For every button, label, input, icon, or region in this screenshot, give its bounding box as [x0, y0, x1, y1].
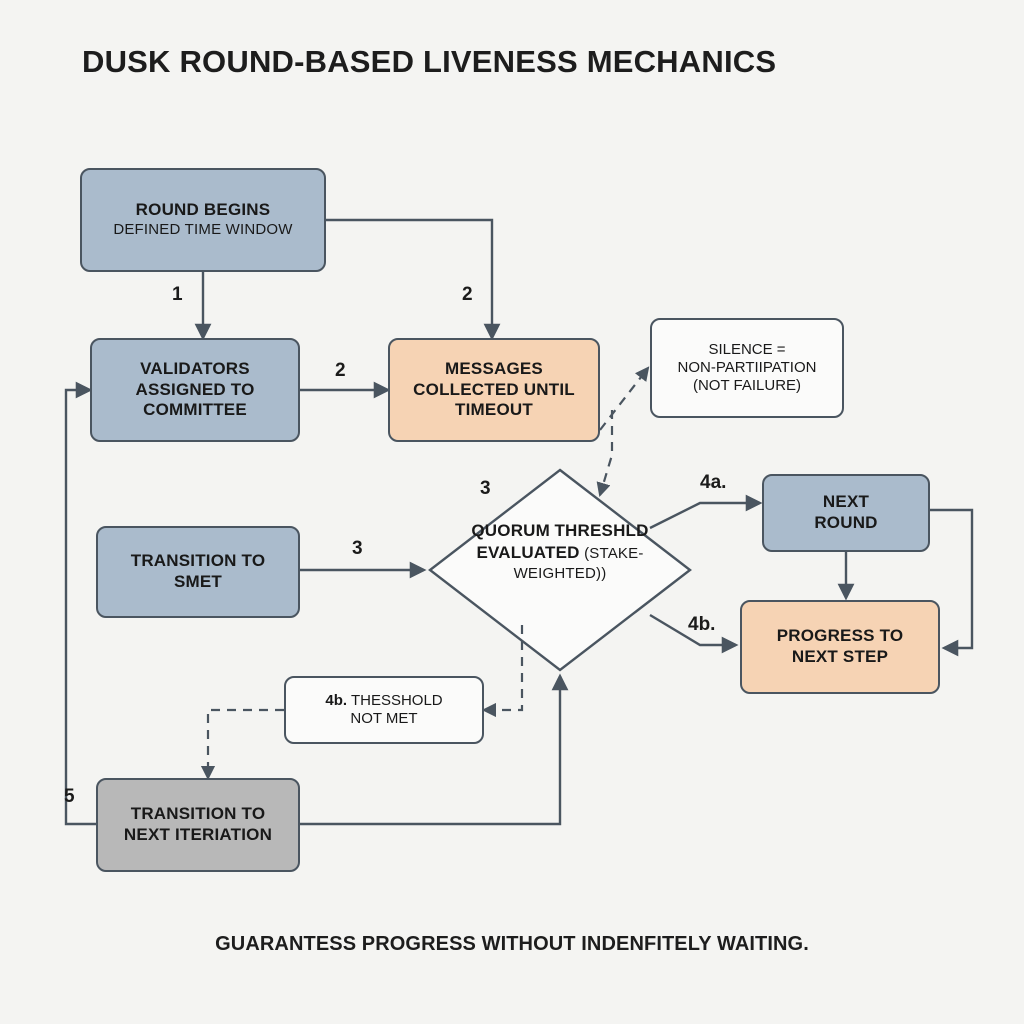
node-messages-line3: TIMEOUT: [455, 400, 533, 421]
node-transition-to-smet[interactable]: TRANSITION TO SMET: [96, 526, 300, 618]
edge-begins-to-messages: [326, 220, 492, 338]
node-validators-assigned[interactable]: VALIDATORS ASSIGNED TO COMMITTEE: [90, 338, 300, 442]
node-messages-line2: COLLECTED UNTIL: [413, 380, 575, 401]
node-validators-line2: ASSIGNED TO: [135, 380, 254, 401]
node-progress-line1: PROGRESS TO: [777, 626, 904, 647]
edge-label-begins-to-validators: 1: [172, 284, 183, 306]
diagram-canvas: DUSK ROUND-BASED LIVENESS MECHANICS: [0, 0, 1024, 1024]
node-round-begins-title: ROUND BEGINS: [136, 200, 271, 221]
edge-loop-back-to-validators: [66, 390, 96, 824]
node-next-round-line1: NEXT: [823, 492, 869, 513]
node-transition-next-iteration[interactable]: TRANSITION TO NEXT ITERIATION: [96, 778, 300, 872]
node-messages-collected[interactable]: MESSAGES COLLECTED UNTIL TIMEOUT: [388, 338, 600, 442]
node-next-round[interactable]: NEXT ROUND: [762, 474, 930, 552]
node-silence-line3: (NOT FAILURE): [693, 377, 801, 395]
edge-quorum-to-next-round: [650, 503, 760, 528]
edge-label-quorum-to-next-round: 4a.: [700, 472, 726, 494]
node-threshold-line1: 4b. THESSHOLD: [325, 692, 442, 710]
node-threshold-line2: NOT MET: [350, 710, 417, 728]
edge-silence-to-quorum: [600, 410, 612, 495]
edge-label-validators-to-messages: 2: [335, 360, 346, 382]
edge-threshold-to-next-iteration: [208, 710, 284, 778]
node-messages-line1: MESSAGES: [445, 359, 543, 380]
node-round-begins[interactable]: ROUND BEGINS DEFINED TIME WINDOW: [80, 168, 326, 272]
node-validators-line3: COMMITTEE: [143, 400, 247, 421]
node-threshold-line1-text: THESSHOLD: [347, 692, 443, 709]
node-next-iteration-line2: NEXT ITERIATION: [124, 825, 272, 846]
node-progress-to-next-step[interactable]: PROGRESS TO NEXT STEP: [740, 600, 940, 694]
edge-messages-to-silence: [600, 368, 648, 430]
node-next-round-line2: ROUND: [814, 513, 877, 534]
edge-label-begins-to-messages: 2: [462, 284, 473, 306]
node-threshold-not-met[interactable]: 4b. THESSHOLD NOT MET: [284, 676, 484, 744]
node-round-begins-subtitle: DEFINED TIME WINDOW: [113, 221, 292, 239]
node-silence-non-participation[interactable]: SILENCE = NON-PARTIIPATION (NOT FAILURE): [650, 318, 844, 418]
node-next-iteration-line1: TRANSITION TO: [131, 804, 266, 825]
node-progress-line2: NEXT STEP: [792, 647, 888, 668]
edge-label-smet-to-quorum: 3: [352, 538, 363, 560]
node-threshold-prefix: 4b.: [325, 692, 347, 709]
quorum-diamond-shape: [430, 470, 690, 670]
edge-label-loop-back: 5: [64, 786, 75, 808]
node-smet-line1: TRANSITION TO: [131, 551, 266, 572]
node-validators-line1: VALIDATORS: [140, 359, 250, 380]
node-silence-line1: SILENCE =: [708, 341, 785, 359]
node-silence-line2: NON-PARTIIPATION: [678, 359, 817, 377]
edge-label-quorum-in: 3: [480, 478, 491, 500]
footer-caption: GUARANTESS PROGRESS WITHOUT INDENFITELY …: [0, 933, 1024, 956]
edge-label-quorum-to-progress: 4b.: [688, 614, 715, 636]
node-smet-line2: SMET: [174, 572, 222, 593]
